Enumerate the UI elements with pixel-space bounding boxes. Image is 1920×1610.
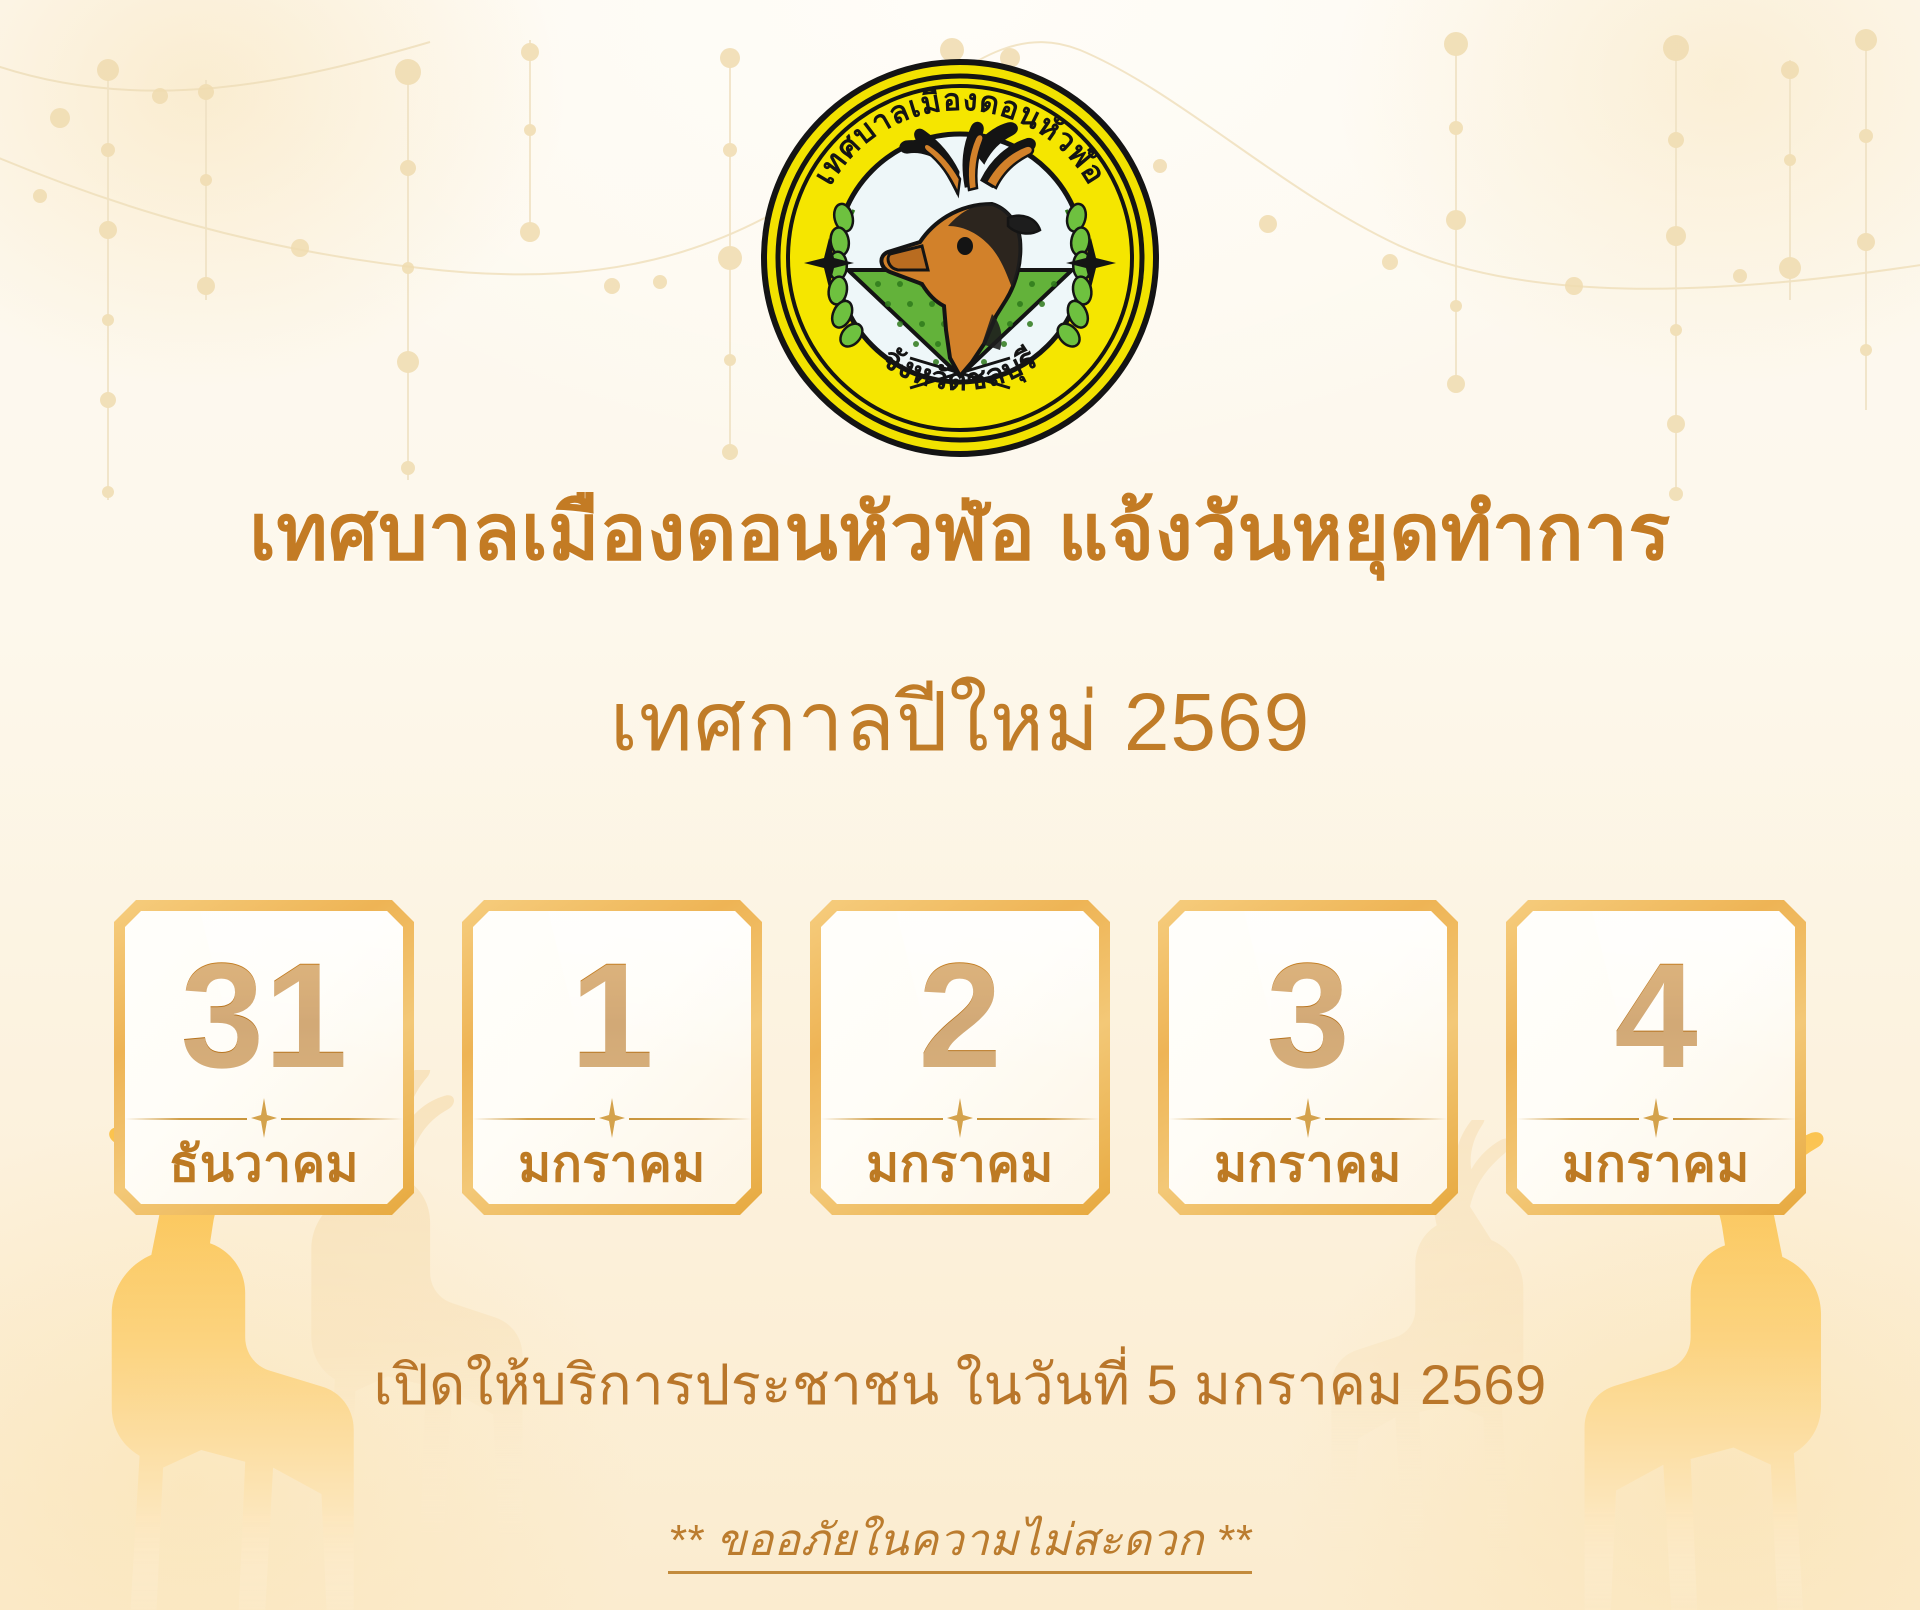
- holiday-date-card: 4 มกราคม: [1506, 900, 1806, 1215]
- holiday-date-card-list: 31 ธันวาคม 1 มกราคม: [0, 900, 1920, 1215]
- card-divider: [1517, 1107, 1795, 1129]
- poster-canvas: เทศบาลเมืองดอนหัวฬ่อ จังหวัดชลบุรี เทศบา…: [0, 0, 1920, 1610]
- corner-glow-top-right: [1320, 0, 1920, 400]
- sparkle-icon: [1295, 1098, 1321, 1138]
- card-month-label: มกราคม: [866, 1137, 1054, 1192]
- holiday-date-card: 31 ธันวาคม: [114, 900, 414, 1215]
- sparkle-icon: [947, 1098, 973, 1138]
- corner-glow-top-left: [0, 0, 580, 400]
- apology-notice: ** ขออภัยในความไม่สะดวก **: [0, 1505, 1920, 1575]
- sparkle-icon: [251, 1098, 277, 1138]
- card-month-label: มกราคม: [518, 1137, 706, 1192]
- card-month-label: มกราคม: [1562, 1137, 1750, 1192]
- card-day-number: 2: [918, 925, 1001, 1105]
- card-day-number: 4: [1614, 925, 1697, 1105]
- page-title: เทศบาลเมืองดอนหัวฬ่อ แจ้งวันหยุดทำการ: [0, 492, 1920, 574]
- card-month-label: ธันวาคม: [169, 1137, 359, 1192]
- holiday-date-card: 1 มกราคม: [462, 900, 762, 1215]
- holiday-date-card: 2 มกราคม: [810, 900, 1110, 1215]
- card-divider: [821, 1107, 1099, 1129]
- card-day-number: 1: [570, 925, 653, 1105]
- page-subtitle: เทศกาลปีใหม่ 2569: [0, 680, 1920, 766]
- sparkle-icon: [599, 1098, 625, 1138]
- card-month-label: มกราคม: [1214, 1137, 1402, 1192]
- holiday-date-card: 3 มกราคม: [1158, 900, 1458, 1215]
- card-divider: [125, 1107, 403, 1129]
- apology-text: ** ขออภัยในความไม่สะดวก **: [668, 1516, 1252, 1574]
- seal-icon: เทศบาลเมืองดอนหัวฬ่อ จังหวัดชลบุรี: [760, 58, 1160, 458]
- municipal-seal-logo: เทศบาลเมืองดอนหัวฬ่อ จังหวัดชลบุรี: [760, 58, 1160, 458]
- card-day-number: 31: [181, 925, 348, 1105]
- sparkle-icon: [1643, 1098, 1669, 1138]
- card-divider: [473, 1107, 751, 1129]
- card-divider: [1169, 1107, 1447, 1129]
- reopen-notice: เปิดให้บริการประชาชน ในวันที่ 5 มกราคม 2…: [0, 1340, 1920, 1429]
- card-day-number: 3: [1266, 925, 1349, 1105]
